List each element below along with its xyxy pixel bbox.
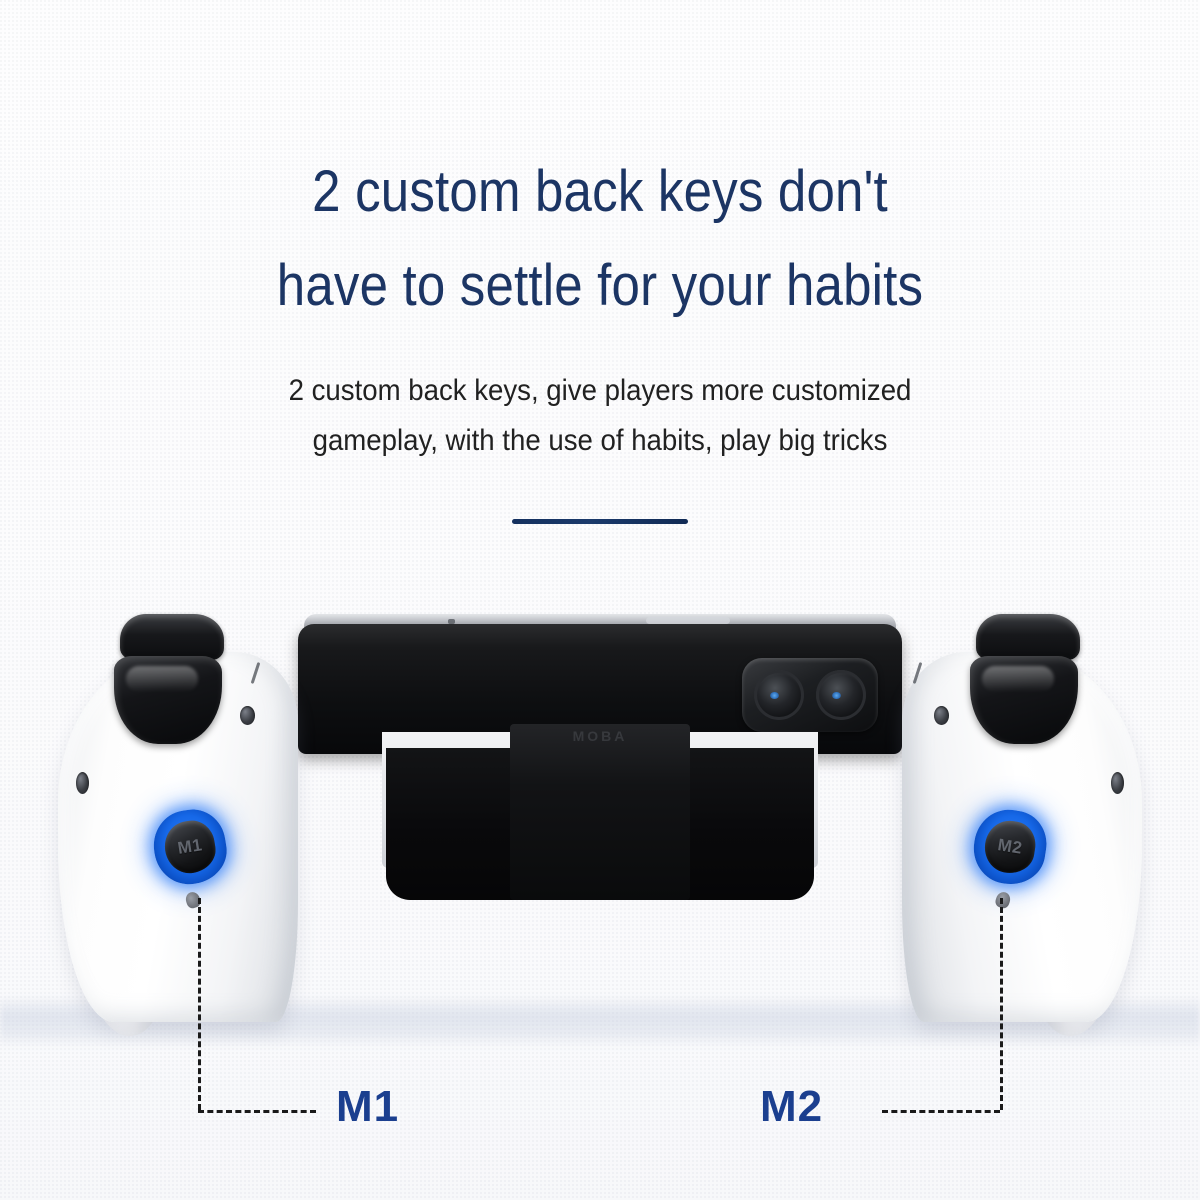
callout-label-m2: M2 <box>760 1082 823 1132</box>
vent-hole-icon <box>934 706 949 725</box>
vent-hole-icon <box>76 772 89 794</box>
vent-hole-icon <box>1111 772 1124 794</box>
controller-grip-right: M2 <box>872 600 1142 1030</box>
smartphone: MOBA <box>298 624 902 900</box>
m2-cap-label: M2 <box>996 835 1023 859</box>
callout-line-m1-horizontal <box>198 1110 316 1113</box>
subtitle-line-1: 2 custom back keys, give players more cu… <box>48 366 1152 416</box>
trigger-cluster-right <box>968 614 1088 744</box>
camera-lens-icon <box>816 670 866 720</box>
back-button-m2[interactable]: M2 <box>969 805 1052 889</box>
controller-center-bridge <box>510 724 690 900</box>
vent-hole-icon <box>240 706 255 725</box>
headline-line-2: have to settle for your habits <box>72 239 1128 333</box>
shoulder-button-r1[interactable] <box>976 614 1080 660</box>
back-button-m1[interactable]: M1 <box>149 805 232 889</box>
headline-line-1: 2 custom back keys don't <box>72 145 1128 239</box>
trigger-cluster-left <box>112 614 232 744</box>
bridge-brand-text: MOBA <box>520 728 680 750</box>
page-headline: 2 custom back keys don't have to settle … <box>72 145 1128 333</box>
camera-lens-icon <box>754 670 804 720</box>
page-subtitle: 2 custom back keys, give players more cu… <box>48 366 1152 466</box>
controller-grip-left: M1 <box>58 600 328 1030</box>
section-divider <box>512 519 688 524</box>
callout-label-m1: M1 <box>336 1082 399 1132</box>
subtitle-line-2: gameplay, with the use of habits, play b… <box>48 416 1152 466</box>
m1-cap-label: M1 <box>176 835 203 859</box>
callout-line-m1-vertical <box>198 898 201 1110</box>
trigger-gloss-left <box>126 666 198 692</box>
phone-speaker-grille <box>646 617 730 624</box>
phone-camera-module <box>742 658 878 732</box>
product-image: MOBA M1 <box>0 600 1200 1070</box>
callout-line-m2-vertical <box>1000 898 1003 1110</box>
shoulder-button-l1[interactable] <box>120 614 224 660</box>
callout-line-m2-horizontal <box>882 1110 1000 1113</box>
trigger-gloss-right <box>982 666 1054 692</box>
